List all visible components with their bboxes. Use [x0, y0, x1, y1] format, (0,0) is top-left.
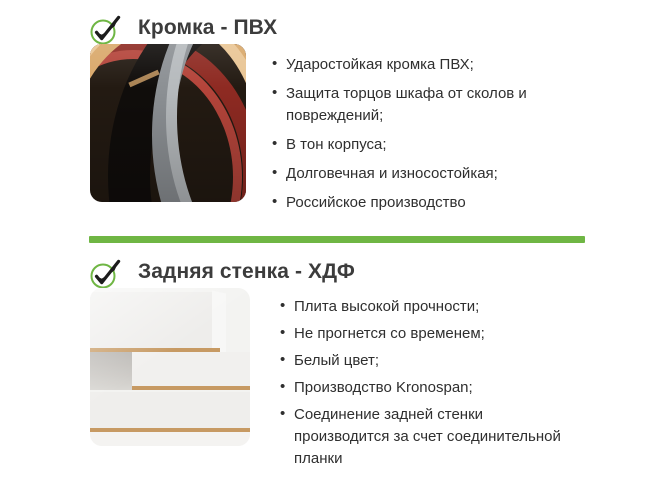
- list-item: Производство Kronospan;: [280, 377, 580, 399]
- list-item: Ударостойкая кромка ПВХ;: [272, 54, 572, 76]
- feature-list-back-panel-hdf: Плита высокой прочности; Не прогнется со…: [280, 296, 580, 475]
- section-back-panel-hdf-header: Задняя стенка - ХДФ: [0, 244, 652, 288]
- list-item: Защита торцов шкафа от сколов и поврежде…: [272, 83, 572, 127]
- list-item: В тон корпуса;: [272, 134, 572, 156]
- list-item: Российское производство: [272, 192, 572, 214]
- feature-list-edge-pvc: Ударостойкая кромка ПВХ; Защита торцов ш…: [272, 54, 572, 221]
- page-title-back-panel-hdf: Задняя стенка - ХДФ: [138, 258, 355, 286]
- page-title-edge-pvc: Кромка - ПВХ: [138, 14, 277, 42]
- list-item: Плита высокой прочности;: [280, 296, 580, 318]
- section-divider: [89, 236, 585, 243]
- section-edge-pvc: Кромка - ПВХ Ударостойкая кром: [0, 0, 652, 44]
- check-circle-icon: [88, 14, 122, 46]
- pvc-rolls-artwork: [90, 44, 246, 202]
- product-features-page: Кромка - ПВХ Ударостойкая кром: [0, 0, 652, 500]
- hdf-white-boards-stack-photo: [90, 288, 250, 446]
- section-edge-pvc-header: Кромка - ПВХ: [0, 0, 652, 44]
- hdf-boards-artwork: [90, 288, 250, 446]
- photo-shading: [90, 44, 246, 202]
- list-item: Не прогнется со временем;: [280, 323, 580, 345]
- pvc-edge-banding-rolls-photo: [90, 44, 246, 202]
- list-item: Долговечная и износостойкая;: [272, 163, 572, 185]
- photo-gloss: [90, 288, 250, 446]
- list-item: Соединение задней стенки производится за…: [280, 404, 580, 470]
- list-item: Белый цвет;: [280, 350, 580, 372]
- check-circle-icon: [88, 258, 122, 290]
- section-back-panel-hdf: Задняя стенка - ХДФ Плита высо: [0, 244, 652, 288]
